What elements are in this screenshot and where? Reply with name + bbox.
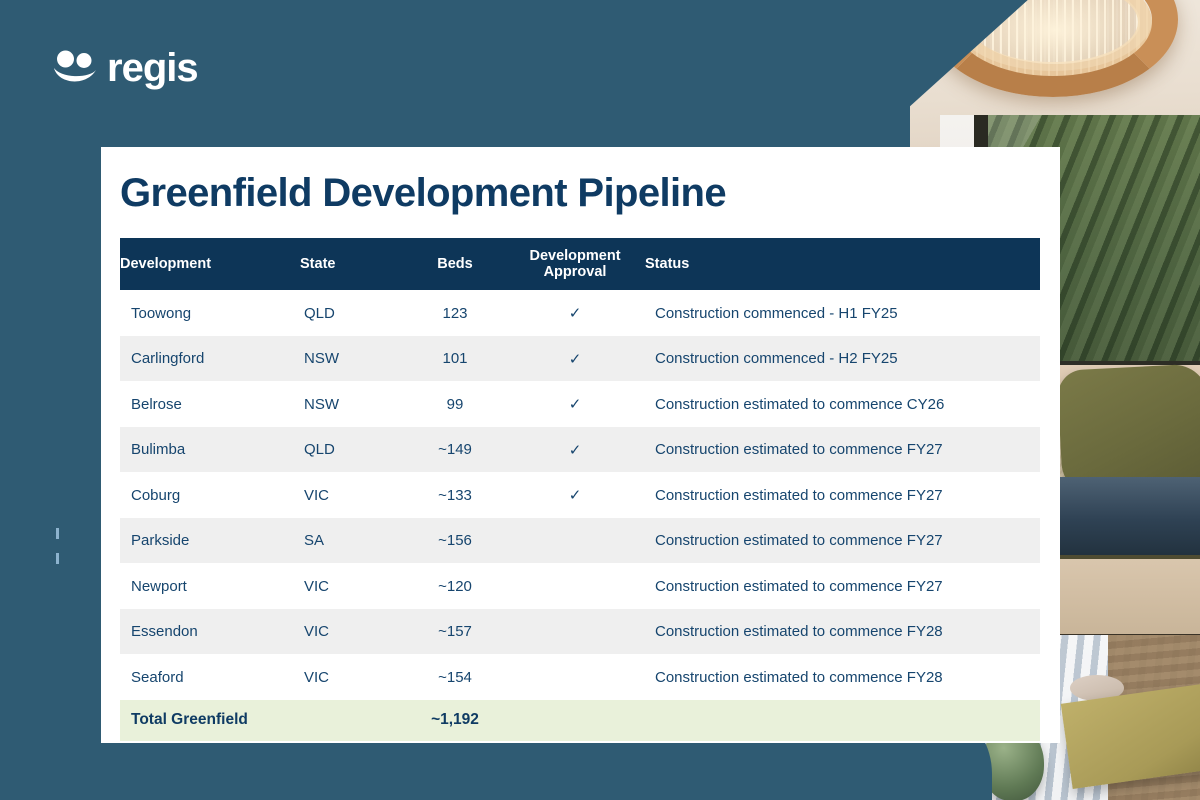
cell-state: QLD: [300, 427, 405, 473]
cell-approval-check-icon: [505, 563, 645, 609]
table-row[interactable]: Bulimba QLD ~149 ✓ Construction estimate…: [120, 427, 1040, 473]
cell-beds: ~157: [405, 609, 505, 655]
cell-beds: ~156: [405, 518, 505, 564]
cell-approval-check-icon: [505, 654, 645, 700]
cell-beds: ~154: [405, 654, 505, 700]
column-header-approval-line1: Development: [529, 248, 620, 264]
table-row[interactable]: Toowong QLD 123 ✓ Construction commenced…: [120, 290, 1040, 336]
table-row[interactable]: Newport VIC ~120 Construction estimated …: [120, 563, 1040, 609]
cell-state: NSW: [300, 381, 405, 427]
cell-approval-check-icon: ✓: [505, 472, 645, 518]
cell-beds: ~149: [405, 427, 505, 473]
table-header-row: Development State Beds Development Appro…: [120, 238, 1040, 290]
cell-state: VIC: [300, 654, 405, 700]
cell-status: Construction commenced - H1 FY25: [645, 290, 1040, 336]
cell-development: Essendon: [120, 609, 300, 655]
cell-development: Parkside: [120, 518, 300, 564]
column-header-state[interactable]: State: [300, 238, 405, 290]
cell-total-approval: [505, 700, 645, 741]
greenfield-pipeline-table: Development State Beds Development Appro…: [120, 238, 1040, 741]
cell-status: Construction estimated to commence FY28: [645, 609, 1040, 655]
column-header-status[interactable]: Status: [645, 238, 1040, 290]
cell-status: Construction estimated to commence FY27: [645, 427, 1040, 473]
column-header-approval-line2: Approval: [544, 264, 607, 280]
cell-total-beds: ~1,192: [405, 700, 505, 741]
left-edge-mark: [56, 553, 59, 564]
left-edge-mark: [56, 528, 59, 539]
table-row[interactable]: Coburg VIC ~133 ✓ Construction estimated…: [120, 472, 1040, 518]
cell-state: VIC: [300, 472, 405, 518]
cell-status: Construction estimated to commence CY26: [645, 381, 1040, 427]
cell-development: Seaford: [120, 654, 300, 700]
cell-state: NSW: [300, 336, 405, 382]
cell-state: SA: [300, 518, 405, 564]
table-row[interactable]: Belrose NSW 99 ✓ Construction estimated …: [120, 381, 1040, 427]
cell-total-state: [300, 700, 405, 741]
cell-status: Construction commenced - H2 FY25: [645, 336, 1040, 382]
cell-status: Construction estimated to commence FY28: [645, 654, 1040, 700]
cell-development: Newport: [120, 563, 300, 609]
column-header-beds[interactable]: Beds: [405, 238, 505, 290]
cell-beds: ~120: [405, 563, 505, 609]
cell-beds: ~133: [405, 472, 505, 518]
table-header: Development State Beds Development Appro…: [120, 238, 1040, 290]
column-header-development-approval[interactable]: Development Approval: [505, 238, 645, 290]
cell-approval-check-icon: ✓: [505, 290, 645, 336]
brand-name: regis: [107, 48, 198, 88]
cell-status: Construction estimated to commence FY27: [645, 563, 1040, 609]
cell-approval-check-icon: [505, 609, 645, 655]
table-body: Toowong QLD 123 ✓ Construction commenced…: [120, 290, 1040, 741]
cell-beds: 99: [405, 381, 505, 427]
table-total-row: Total Greenfield ~1,192: [120, 700, 1040, 741]
cell-approval-check-icon: [505, 518, 645, 564]
cell-development: Carlingford: [120, 336, 300, 382]
regis-logo[interactable]: regis: [52, 48, 198, 88]
cell-total-status: [645, 700, 1040, 741]
cell-beds: 123: [405, 290, 505, 336]
cell-state: VIC: [300, 609, 405, 655]
cell-development: Toowong: [120, 290, 300, 336]
cell-development: Belrose: [120, 381, 300, 427]
cell-approval-check-icon: ✓: [505, 336, 645, 382]
cell-approval-check-icon: ✓: [505, 381, 645, 427]
cell-status: Construction estimated to commence FY27: [645, 518, 1040, 564]
cell-approval-check-icon: ✓: [505, 427, 645, 473]
table-row[interactable]: Carlingford NSW 101 ✓ Construction comme…: [120, 336, 1040, 382]
left-edge-marks: [56, 528, 59, 578]
cell-state: QLD: [300, 290, 405, 336]
table-row[interactable]: Essendon VIC ~157 Construction estimated…: [120, 609, 1040, 655]
cell-status: Construction estimated to commence FY27: [645, 472, 1040, 518]
cell-development: Bulimba: [120, 427, 300, 473]
table-row[interactable]: Seaford VIC ~154 Construction estimated …: [120, 654, 1040, 700]
cell-beds: 101: [405, 336, 505, 382]
cell-development: Coburg: [120, 472, 300, 518]
column-header-development[interactable]: Development: [120, 238, 300, 290]
greenfield-pipeline-card: Greenfield Development Pipeline Developm…: [101, 147, 1060, 743]
page-title: Greenfield Development Pipeline: [101, 147, 1060, 216]
smiley-face-icon: [52, 48, 98, 88]
cell-state: VIC: [300, 563, 405, 609]
cell-total-label: Total Greenfield: [120, 700, 300, 741]
table-row[interactable]: Parkside SA ~156 Construction estimated …: [120, 518, 1040, 564]
